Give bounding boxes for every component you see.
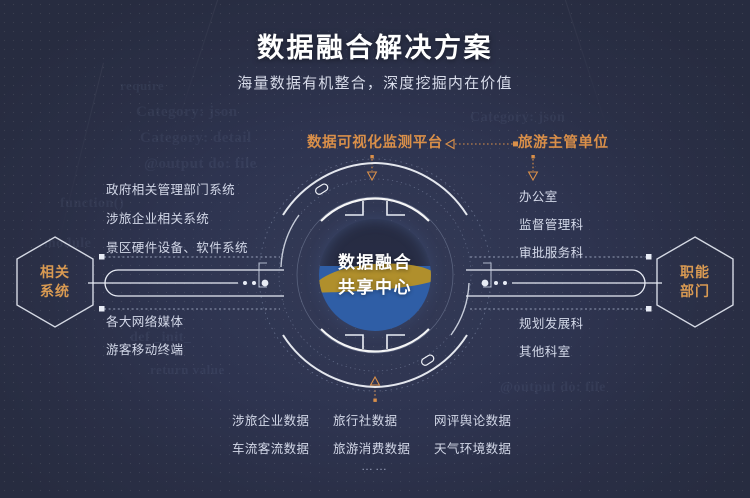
hex-badge-right-text: 职能 部门	[652, 234, 738, 330]
hex-badge-left-text: 相关 系统	[12, 234, 98, 330]
decor-streak	[563, 0, 610, 136]
left-list-item[interactable]: 政府相关管理部门系统	[106, 179, 235, 198]
data-cell[interactable]: 旅游消费数据	[333, 438, 410, 457]
data-cell[interactable]: 天气环境数据	[434, 438, 511, 457]
data-ellipsis: ……	[0, 459, 750, 473]
left-list-item[interactable]: 各大网络媒体	[106, 311, 183, 330]
data-cell[interactable]: 涉旅企业数据	[232, 410, 309, 429]
background-code-text: Category: json	[136, 104, 238, 121]
data-fusion-hub: 数据融合 共享中心	[255, 155, 495, 395]
background-code-text: Category: detail	[140, 130, 252, 147]
page-title: 数据融合解决方案	[0, 26, 750, 65]
infographic-canvas: Category: json Category: detail @output …	[0, 0, 750, 498]
right-list-item[interactable]: 其他科室	[519, 341, 571, 360]
center-hub-label: 数据融合 共享中心	[255, 155, 495, 395]
left-list-item[interactable]: 游客移动终端	[106, 339, 183, 358]
right-list-item[interactable]: 办公室	[519, 186, 558, 205]
data-cell[interactable]: 网评舆论数据	[434, 410, 511, 429]
background-code-text: @output do: file	[500, 380, 606, 396]
right-list-item[interactable]: 监督管理科	[519, 214, 584, 233]
left-list-item[interactable]: 景区硬件设备、软件系统	[106, 237, 248, 256]
right-list-item[interactable]: 审批服务科	[519, 242, 584, 261]
center-line1: 数据融合	[338, 250, 412, 275]
decor-streak	[173, 0, 220, 136]
hex-left-line1: 相关	[40, 263, 70, 282]
label-tourism-authority[interactable]: 旅游主管单位	[518, 131, 609, 152]
hex-right-line2: 部门	[680, 282, 710, 301]
background-code-text: @output do: file	[144, 156, 257, 173]
background-code-text: return value	[150, 362, 225, 378]
hex-badge-related-systems[interactable]: 相关 系统	[12, 234, 98, 330]
left-list-item[interactable]: 涉旅企业相关系统	[106, 208, 209, 227]
center-line2: 共享中心	[338, 275, 412, 300]
hex-right-line1: 职能	[680, 263, 710, 282]
page-subtitle: 海量数据有机整合，深度挖掘内在价值	[0, 72, 750, 93]
right-list-item[interactable]: 规划发展科	[519, 313, 584, 332]
left-arrow-dotted-connector-icon	[443, 138, 523, 150]
label-visualization-platform[interactable]: 数据可视化监测平台	[307, 131, 443, 152]
hex-badge-functional-departments[interactable]: 职能 部门	[652, 234, 738, 330]
background-code-text: Category: json	[470, 110, 565, 126]
data-cell[interactable]: 车流客流数据	[232, 438, 309, 457]
drop-marker-triangle-icon	[527, 155, 539, 185]
hex-left-line2: 系统	[40, 282, 70, 301]
data-cell[interactable]: 旅行社数据	[333, 410, 398, 429]
